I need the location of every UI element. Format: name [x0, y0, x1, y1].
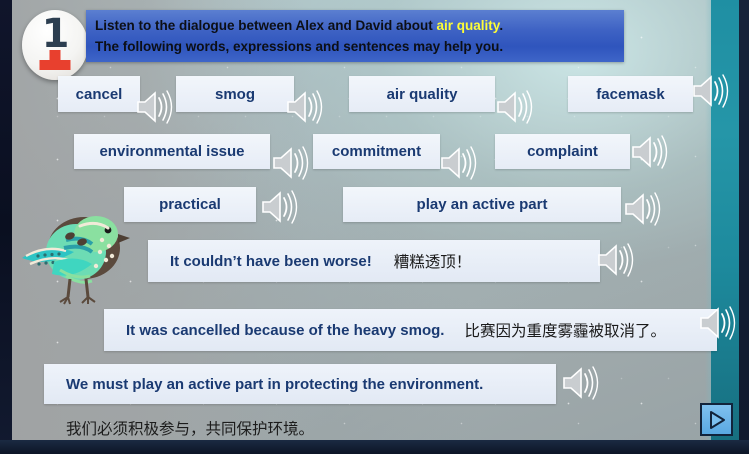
- sentence-chinese: 糟糕透顶！: [394, 250, 472, 272]
- speaker-icon[interactable]: [620, 190, 662, 228]
- instruction-line-1-suffix: .: [499, 18, 503, 33]
- instruction-highlight: air quality: [437, 18, 500, 33]
- word-chip-cancel[interactable]: cancel: [58, 76, 140, 112]
- slide-bottom-border: [0, 440, 749, 454]
- sentence-row-1[interactable]: It couldn’t have been worse! 糟糕透顶！: [148, 240, 600, 282]
- sentence-chinese-translation: 我们必须积极参与，共同保护环境。: [66, 417, 314, 439]
- word-chip-label: practical: [159, 196, 221, 213]
- sentence-row-2[interactable]: It was cancelled because of the heavy sm…: [104, 309, 717, 351]
- speaker-icon[interactable]: [688, 72, 730, 110]
- word-chip-air-quality[interactable]: air quality: [349, 76, 495, 112]
- word-chip-label: smog: [215, 86, 255, 103]
- instruction-line-2: The following words, expressions and sen…: [95, 36, 624, 57]
- speaker-icon[interactable]: [132, 88, 174, 126]
- speaker-icon[interactable]: [558, 364, 600, 402]
- play-triangle-icon: [708, 410, 726, 430]
- instruction-line-1: Listen to the dialogue between Alex and …: [95, 15, 624, 36]
- slide-right-border: [739, 0, 749, 454]
- play-button[interactable]: [700, 403, 733, 436]
- word-chip-label: cancel: [76, 86, 123, 103]
- word-chip-complaint[interactable]: complaint: [495, 134, 630, 169]
- speaker-icon[interactable]: [257, 188, 299, 226]
- sentence-row-3[interactable]: We must play an active part in protectin…: [44, 364, 556, 404]
- word-chip-label: environmental issue: [99, 143, 244, 160]
- sentence-english: We must play an active part in protectin…: [66, 376, 483, 393]
- sentence-english: It couldn’t have been worse!: [170, 253, 372, 270]
- speaker-icon[interactable]: [282, 88, 324, 126]
- speaker-icon[interactable]: [492, 88, 534, 126]
- word-chip-facemask[interactable]: facemask: [568, 76, 693, 112]
- lesson-number-badge: 1: [22, 10, 88, 80]
- speaker-icon[interactable]: [593, 241, 635, 279]
- word-chip-label: complaint: [527, 143, 598, 160]
- word-chip-environmental-issue[interactable]: environmental issue: [74, 134, 270, 169]
- lesson-slide: 1 Listen to the dialogue between Alex an…: [0, 0, 749, 454]
- word-chip-label: facemask: [596, 86, 664, 103]
- speaker-icon[interactable]: [695, 304, 737, 342]
- slide-left-border: [0, 0, 12, 454]
- instruction-line-1-prefix: Listen to the dialogue between Alex and …: [95, 18, 437, 33]
- speaker-icon[interactable]: [268, 144, 310, 182]
- background-teal-strip: [711, 0, 739, 440]
- word-chip-play-an-active-part[interactable]: play an active part: [343, 187, 621, 222]
- instruction-banner: Listen to the dialogue between Alex and …: [86, 10, 624, 62]
- word-chip-smog[interactable]: smog: [176, 76, 294, 112]
- word-chip-practical[interactable]: practical: [124, 187, 256, 222]
- word-chip-label: air quality: [387, 86, 458, 103]
- speaker-icon[interactable]: [436, 144, 478, 182]
- speaker-icon[interactable]: [627, 133, 669, 171]
- badge-pedestal-foot: [40, 60, 71, 70]
- word-chip-label: play an active part: [417, 196, 548, 213]
- word-chip-label: commitment: [332, 143, 421, 160]
- word-chip-commitment[interactable]: commitment: [313, 134, 440, 169]
- sentence-english: It was cancelled because of the heavy sm…: [126, 322, 444, 339]
- sentence-chinese: 比赛因为重度雾霾被取消了。: [464, 319, 666, 341]
- bird-illustration: [8, 196, 140, 313]
